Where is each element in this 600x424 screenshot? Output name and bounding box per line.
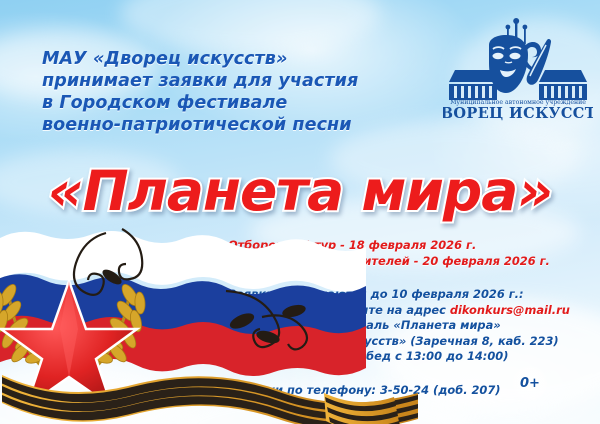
- festival-title: «Планета мира»: [0, 160, 600, 222]
- email-address[interactable]: dikonkurs@mail.ru: [450, 303, 570, 317]
- headline-line-1: МАУ «Дворец искусств»: [42, 48, 442, 70]
- headline-line-2: принимает заявки для участия: [42, 70, 442, 92]
- logo-org-name: «ДВОРЕЦ ИСКУССТВ»: [443, 105, 593, 122]
- cloud-decoration: [120, 0, 380, 54]
- patriotic-artwork: [0, 225, 424, 424]
- st-george-ribbon: [2, 375, 418, 424]
- theatre-mask-icon: [489, 35, 528, 93]
- age-rating-badge: 0+: [513, 366, 547, 400]
- headline-block: МАУ «Дворец искусств» принимает заявки д…: [42, 48, 442, 136]
- headline-line-4: военно-патриотической песни: [42, 114, 442, 136]
- organization-logo: Муниципальное автономное учреждение «ДВО…: [443, 12, 593, 124]
- poster-canvas: Муниципальное автономное учреждение «ДВО…: [0, 0, 600, 424]
- headline-line-3: в Городском фестивале: [42, 92, 442, 114]
